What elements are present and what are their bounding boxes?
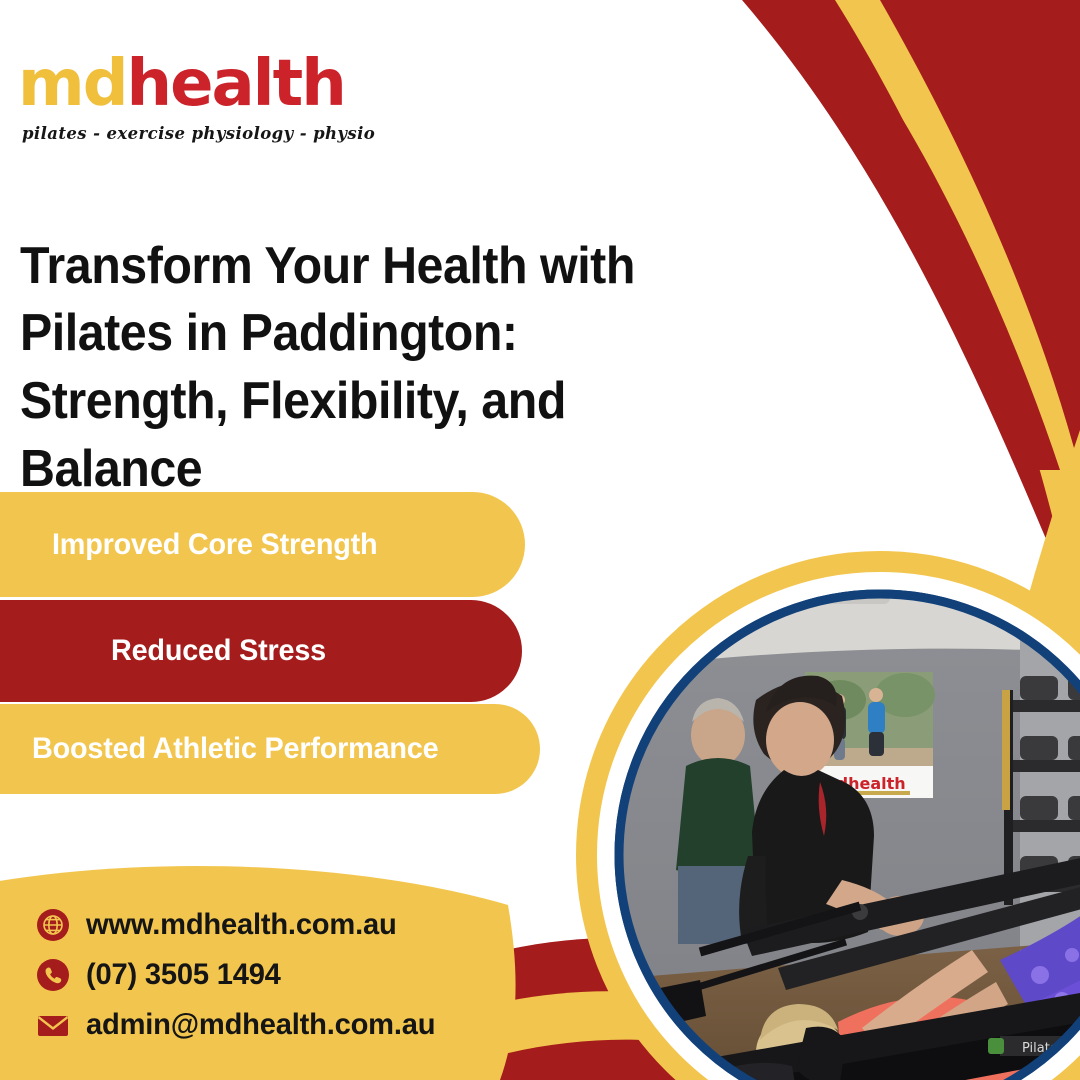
benefit-pill-1: Improved Core Strength — [0, 492, 525, 597]
email-text: admin@mdhealth.com.au — [86, 1008, 435, 1042]
benefit-label-3: Boosted Athletic Performance — [32, 732, 438, 766]
contact-block: www.mdhealth.com.au (07) 3505 1494 admin… — [36, 900, 446, 1050]
poster-canvas: mdhealth — [0, 0, 1080, 1080]
page-title: Transform Your Health with Pilates in Pa… — [20, 233, 680, 503]
logo-text-health: health — [127, 47, 345, 121]
logo-tagline: pilates - exercise physiology - physio — [22, 124, 375, 143]
contact-row-email[interactable]: admin@mdhealth.com.au — [36, 1000, 446, 1050]
website-text: www.mdhealth.com.au — [86, 908, 397, 942]
benefit-label-2: Reduced Stress — [111, 634, 326, 668]
brand-logo: mdhealth pilates - exercise physiology -… — [18, 52, 318, 152]
benefit-pill-2: Reduced Stress — [0, 600, 522, 702]
contact-row-phone[interactable]: (07) 3505 1494 — [36, 950, 446, 1000]
benefit-pill-3: Boosted Athletic Performance — [0, 704, 540, 794]
phone-text: (07) 3505 1494 — [86, 958, 281, 992]
phone-icon — [36, 958, 70, 992]
logo-text-md: md — [18, 47, 127, 121]
contact-row-website[interactable]: www.mdhealth.com.au — [36, 900, 446, 950]
envelope-icon — [36, 1008, 70, 1042]
benefit-label-1: Improved Core Strength — [52, 528, 377, 562]
globe-icon — [36, 908, 70, 942]
